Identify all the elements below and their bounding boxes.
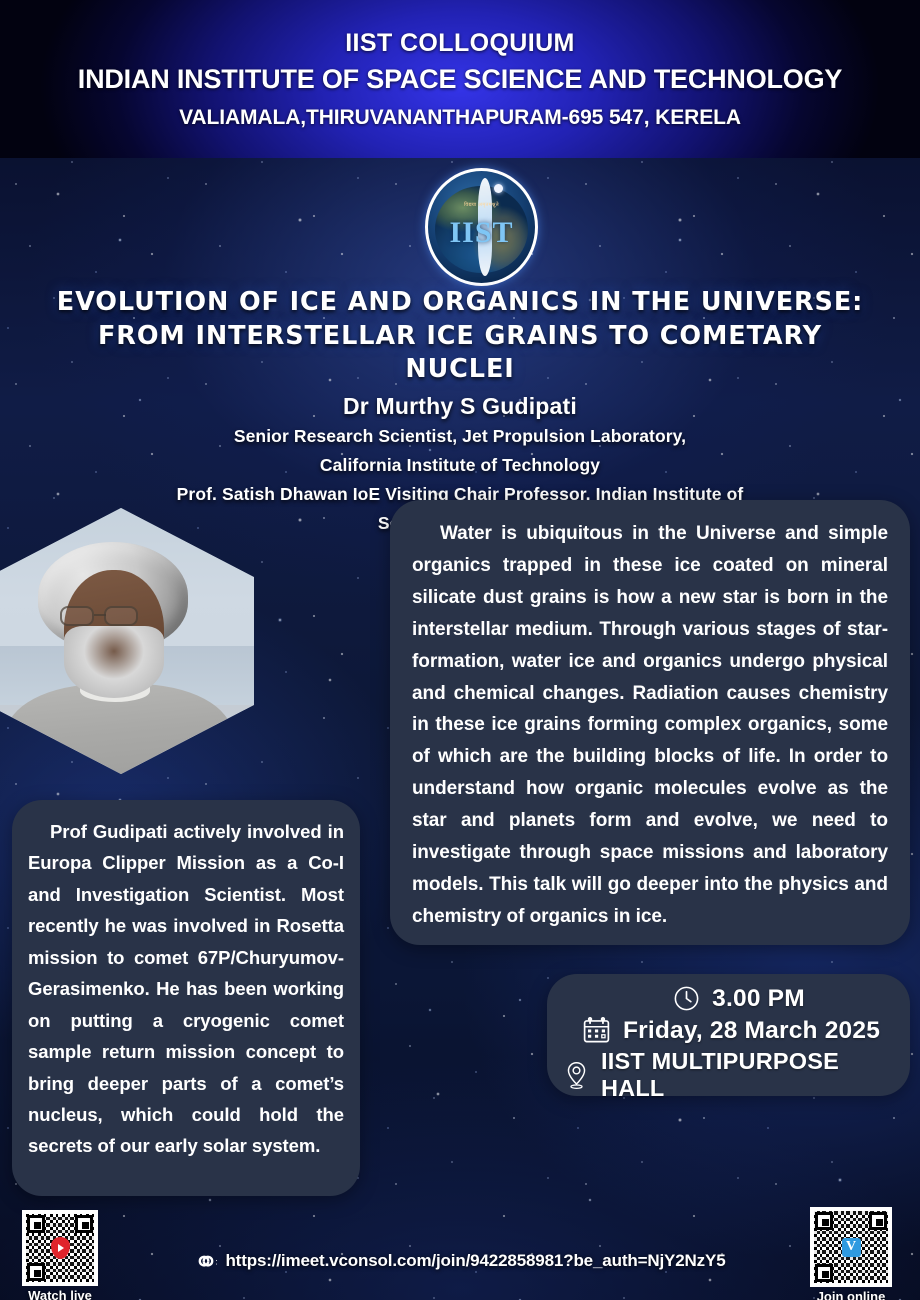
svg-text::: : [216,1256,218,1266]
event-date-row: Friday, 28 March 2025 [561,1015,896,1046]
clock-icon [672,984,701,1013]
join-online-label: Join online [810,1289,892,1300]
event-venue: IIST MULTIPURPOSE HALL [601,1048,896,1102]
meeting-link-row[interactable]: : https://imeet.vconsol.com/join/9422858… [0,1251,920,1271]
event-details-card: 3.00 PM Friday, 28 March 2025 [547,974,910,1096]
photo-beard [64,626,164,698]
photo-glasses-left [60,606,94,626]
header-line-colloquium: IIST COLLOQUIUM [0,28,920,59]
qr-finder-top-left [815,1212,833,1230]
join-online-qr-code[interactable]: V [810,1207,892,1287]
abstract-text: Water is ubiquitous in the Universe and … [412,518,888,933]
talk-title-block: EVOLUTION OF ICE AND ORGANICS IN THE UNI… [40,286,880,535]
abstract-card: Water is ubiquitous in the Universe and … [390,500,910,945]
link-chain-icon: : [194,1252,218,1270]
header-line-address: VALIAMALA,THIRUVANANTHAPURAM-695 547, KE… [0,104,920,132]
event-venue-row: IIST MULTIPURPOSE HALL [561,1048,896,1102]
watch-live-label: Watch live [22,1288,98,1300]
biography-card: Prof Gudipati actively involved in Europ… [12,800,360,1196]
speaker-affiliation-2: California Institute of Technology [40,453,880,478]
speaker-name: Dr Murthy S Gudipati [40,393,880,420]
talk-title-line-2: FROM INTERSTELLAR ICE GRAINS TO COMETARY… [40,320,880,387]
logo-ring: विद्यया अमृतमश्नुते IIST [425,168,538,286]
colloquium-poster: IIST COLLOQUIUM INDIAN INSTITUTE OF SPAC… [0,0,920,1300]
speaker-affiliation-1: Senior Research Scientist, Jet Propulsio… [40,424,880,449]
header-line-institute: INDIAN INSTITUTE OF SPACE SCIENCE AND TE… [0,62,920,97]
meeting-url[interactable]: https://imeet.vconsol.com/join/942285898… [225,1251,725,1271]
event-date: Friday, 28 March 2025 [623,1017,880,1045]
event-time: 3.00 PM [712,985,805,1013]
event-time-row: 3.00 PM [561,984,896,1013]
photo-glasses-bridge [94,614,106,616]
poster-header: IIST COLLOQUIUM INDIAN INSTITUTE OF SPAC… [0,0,920,158]
biography-text: Prof Gudipati actively involved in Europ… [28,816,344,1162]
logo-motto: विद्यया अमृतमश्नुते [428,202,535,208]
iist-logo: विद्यया अमृतमश्नुते IIST [425,168,538,286]
qr-finder-top-right [75,1215,93,1233]
qr-finder-top-right [869,1212,887,1230]
talk-title-line-1: EVOLUTION OF ICE AND ORGANICS IN THE UNI… [40,286,880,320]
logo-wordmark: IIST [428,216,535,250]
header-text-group: IIST COLLOQUIUM INDIAN INSTITUTE OF SPAC… [0,28,920,133]
location-pin-icon [563,1061,590,1090]
photo-glasses-right [104,606,138,626]
watch-live-qr-code[interactable] [22,1210,98,1286]
qr-finder-top-left [27,1215,45,1233]
calendar-icon [581,1015,612,1046]
